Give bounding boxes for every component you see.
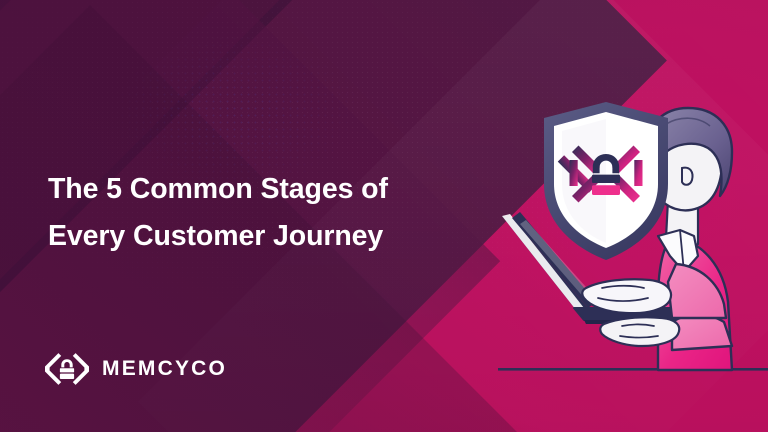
memcyco-wordmark: MEMCYCO [102, 357, 227, 381]
memcyco-logo[interactable]: MEMCYCO [45, 350, 227, 388]
security-shield-badge [544, 102, 668, 260]
memcyco-bracket-lock-icon [45, 350, 89, 388]
hero-illustration [436, 96, 768, 432]
banner-title-line-1: The 5 Common Stages of [48, 166, 478, 213]
banner-title-line-2: Every Customer Journey [48, 213, 478, 260]
banner-title: The 5 Common Stages of Every Customer Jo… [48, 166, 478, 260]
blog-hero-banner: The 5 Common Stages of Every Customer Jo… [0, 0, 768, 432]
